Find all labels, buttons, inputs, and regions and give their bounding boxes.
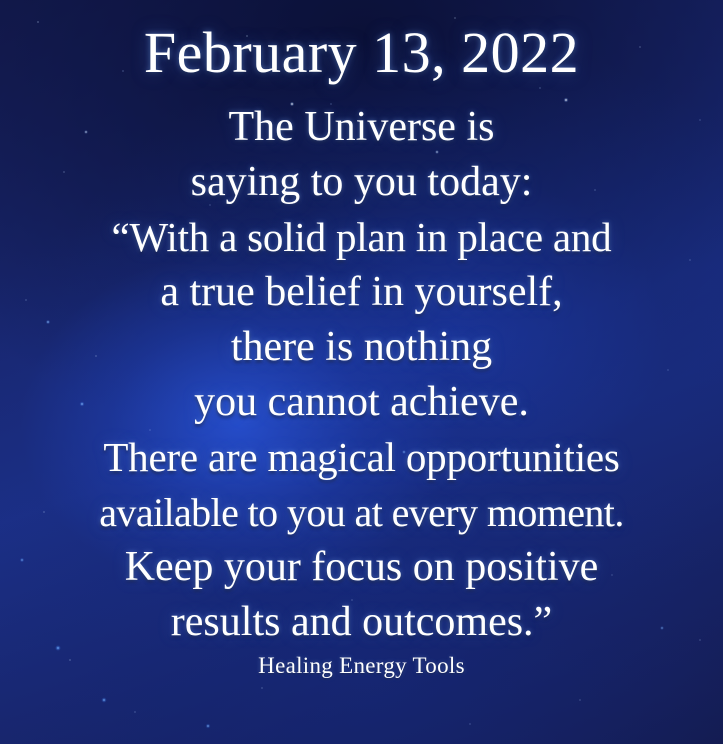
quote-text-block: The Universe is saying to you today: “Wi… — [6, 100, 717, 650]
quote-line: There are magical opportunities — [6, 430, 717, 485]
quote-line: saying to you today: — [6, 155, 717, 210]
quote-line: a true belief in yourself, — [6, 265, 717, 320]
inspirational-quote-poster: February 13, 2022 The Universe is saying… — [0, 0, 723, 744]
quote-line: you cannot achieve. — [6, 375, 717, 430]
date-title: February 13, 2022 — [6, 0, 717, 85]
attribution-credit: Healing Energy Tools — [6, 650, 717, 680]
quote-line: “With a solid plan in place and — [6, 210, 717, 265]
poster-content: February 13, 2022 The Universe is saying… — [0, 0, 723, 744]
quote-line: available to you at every moment. — [6, 485, 717, 540]
quote-line: The Universe is — [6, 100, 717, 155]
quote-line: results and outcomes.” — [6, 595, 717, 650]
quote-line: there is nothing — [6, 320, 717, 375]
quote-line: Keep your focus on positive — [6, 540, 717, 595]
